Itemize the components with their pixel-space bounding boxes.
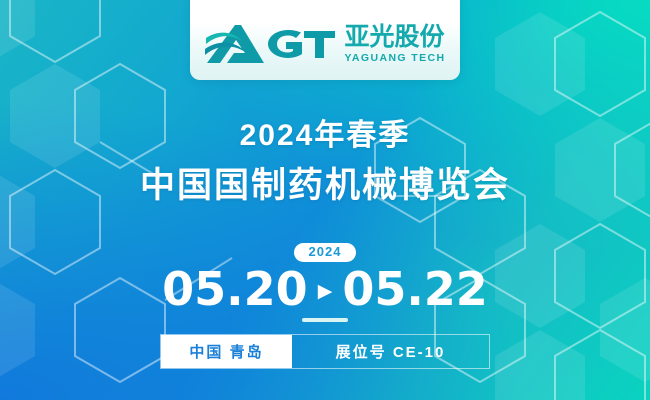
event-date-range: 05.20 ▶ 05.22 — [0, 266, 650, 312]
event-title-line-2: 中国国制药机械博览会 — [0, 165, 650, 206]
event-banner-poster: 亚光股份 YAGUANG TECH 2024年春季 中国国制药机械博览会 202… — [0, 0, 650, 400]
event-end-date: 05.22 — [342, 266, 488, 312]
event-year-badge: 2024 — [294, 243, 357, 262]
logo-company-name-en: YAGUANG TECH — [344, 53, 445, 64]
agt-swoosh-logo-icon — [204, 22, 336, 66]
logo-company-name-zh: 亚光股份 — [344, 25, 444, 50]
event-booth-number: 展位号 CE-10 — [292, 335, 489, 368]
date-underline-rule — [302, 318, 348, 322]
sponsor-logo-card: 亚光股份 YAGUANG TECH — [190, 0, 460, 80]
event-date-block: 2024 05.20 ▶ 05.22 — [0, 243, 650, 322]
event-title-line-1: 2024年春季 — [0, 118, 650, 153]
event-title-block: 2024年春季 中国国制药机械博览会 — [0, 118, 650, 207]
triangle-right-icon: ▶ — [318, 282, 333, 301]
footer-info-bar: 中国 青岛 展位号 CE-10 — [160, 334, 490, 369]
event-start-date: 05.20 — [162, 266, 308, 312]
event-location: 中国 青岛 — [161, 335, 292, 368]
